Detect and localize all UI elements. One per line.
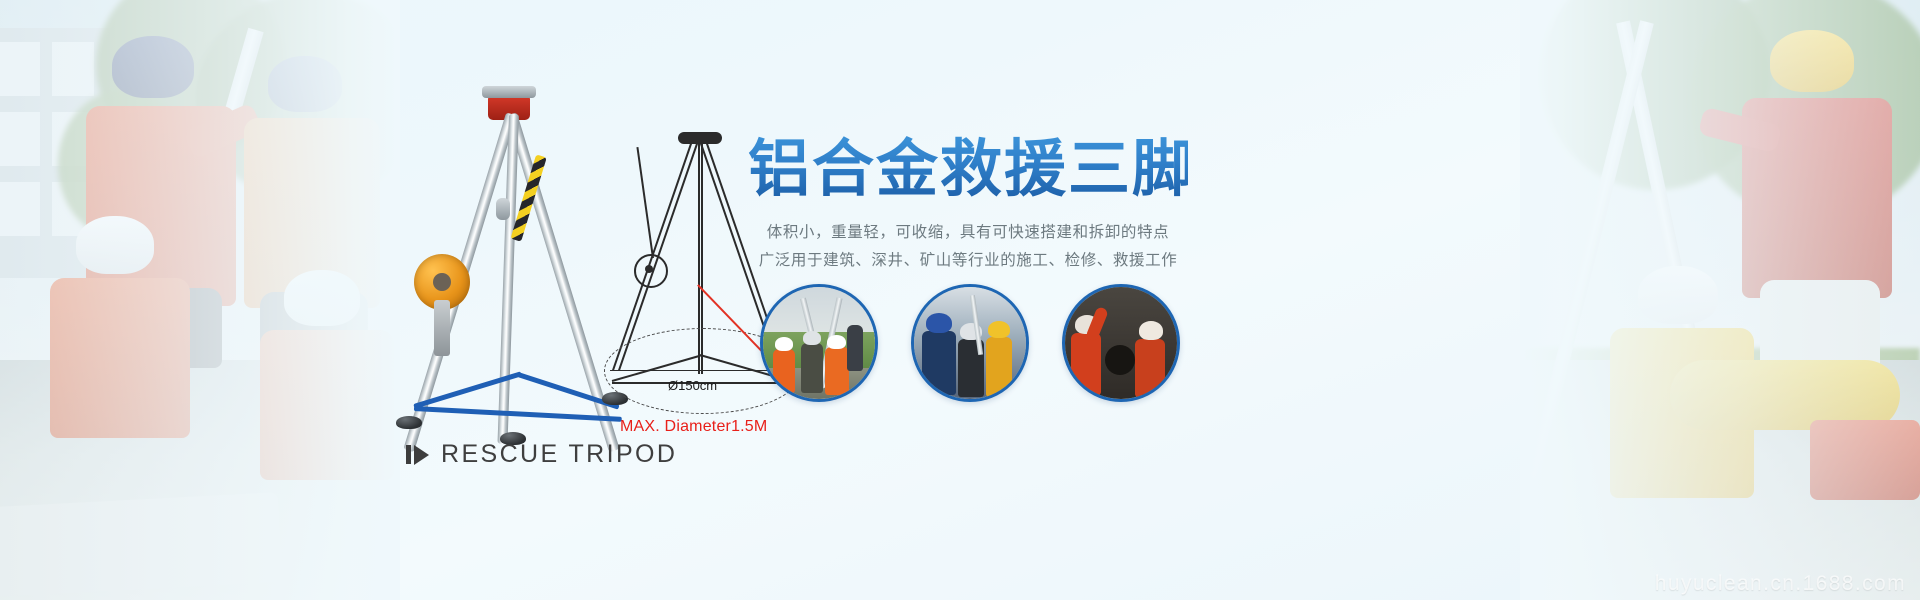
helmet-shape [803, 331, 821, 345]
product-banner: Ø150cm MAX. Diameter1.5M RESCUE TRIPOD 铝… [0, 0, 1920, 600]
gallery-circles [760, 284, 1180, 402]
gallery-circle-2[interactable] [911, 284, 1029, 402]
worker-shape [801, 343, 823, 393]
worker-shape [825, 347, 849, 395]
helmet-shape [827, 335, 846, 349]
right-scene-photo [1520, 0, 1920, 600]
headline-block: 铝合金救援三脚架 体积小，重量轻，可收缩，具有可快速搭建和拆卸的特点 广泛用于建… [748, 136, 1188, 275]
gallery-circle-3[interactable] [1062, 284, 1180, 402]
gallery-circle-1[interactable] [760, 284, 878, 402]
tripod-head-cap [482, 86, 536, 98]
base-strap [414, 406, 622, 422]
tripod-foot [396, 416, 422, 429]
product-label-text: RESCUE TRIPOD [441, 440, 677, 469]
line-cable [636, 147, 654, 258]
worker-shape [986, 337, 1012, 397]
right-photo-fade [1520, 0, 1920, 600]
left-scene-photo [0, 0, 400, 600]
page-title: 铝合金救援三脚架 [748, 136, 1188, 202]
line-winch-hub [645, 265, 653, 273]
product-label: RESCUE TRIPOD [406, 440, 677, 469]
tripod-product-render [378, 86, 638, 456]
subtitle-line-2: 广泛用于建筑、深井、矿山等行业的施工、检修、救援工作 [748, 246, 1188, 275]
worker-shape [773, 349, 795, 393]
diameter-label: Ø150cm [668, 378, 717, 393]
worker-shape [1071, 333, 1101, 395]
subtitle-line-1: 体积小，重量轻，可收缩，具有可快速搭建和拆卸的特点 [748, 218, 1188, 247]
bystander-shape [847, 325, 863, 371]
winch-bracket [434, 300, 450, 356]
pulley-block [496, 198, 510, 220]
subtitle-block: 体积小，重量轻，可收缩，具有可快速搭建和拆卸的特点 广泛用于建筑、深井、矿山等行… [748, 218, 1188, 275]
manhole-shape [1105, 345, 1135, 375]
max-diameter-label: MAX. Diameter1.5M [620, 418, 767, 436]
line-head [678, 132, 722, 144]
play-marker-icon [406, 445, 429, 465]
helmet-shape [988, 321, 1010, 338]
worker-shape [1135, 339, 1165, 397]
left-photo-fade [0, 0, 400, 600]
worker-shape [922, 331, 956, 395]
helmet-shape [1139, 321, 1163, 340]
helmet-shape [926, 313, 952, 333]
helmet-shape [775, 337, 793, 351]
